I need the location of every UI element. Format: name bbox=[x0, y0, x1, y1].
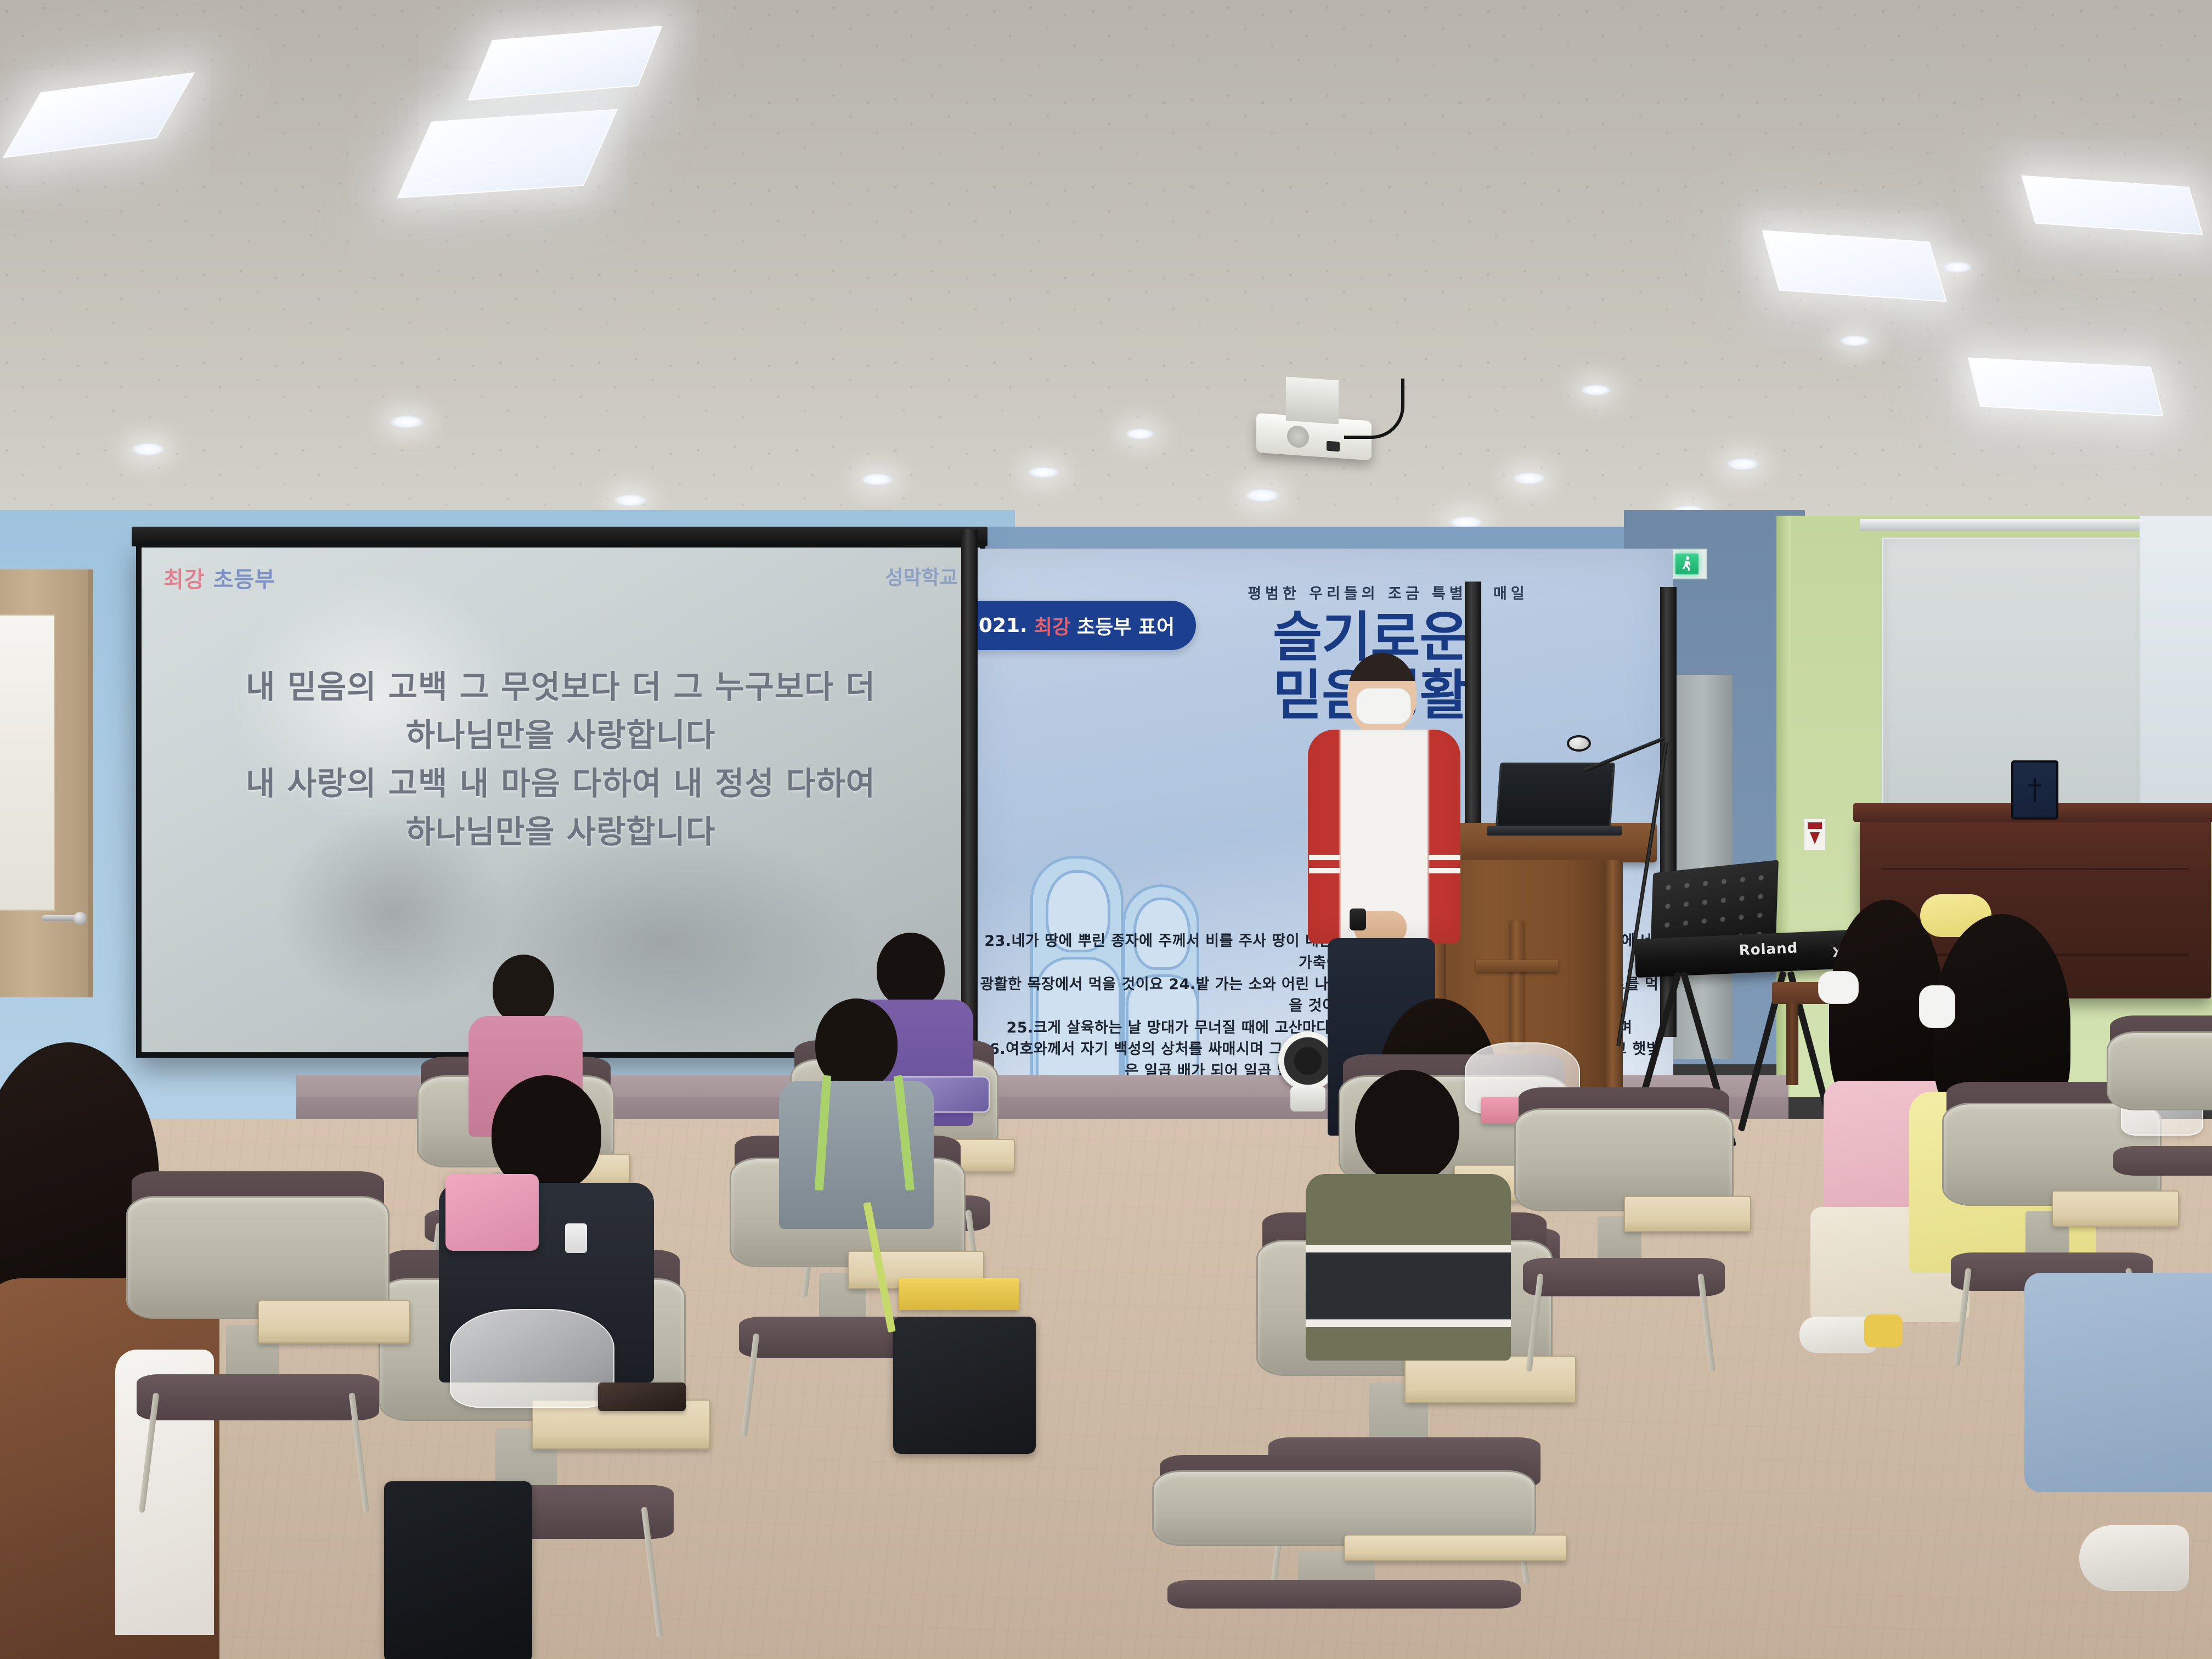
banner-slogan-pill: 2021. 최강 초등부 표어 bbox=[966, 601, 1196, 650]
candy-bag bbox=[450, 1309, 614, 1408]
speaker-sleeve-stripe bbox=[1309, 855, 1340, 860]
ceiling-downlight bbox=[1580, 384, 1612, 396]
laptop-base bbox=[1487, 826, 1622, 836]
ceiling-downlight bbox=[860, 473, 894, 486]
slide-logo: 최강 초등부 bbox=[163, 562, 275, 594]
speaker-sleeve-stripe bbox=[1429, 868, 1460, 873]
ceiling-panel-light bbox=[1968, 357, 2164, 416]
slide-header: 최강 초등부 성막학교 bbox=[142, 562, 980, 594]
piano-bench-leg bbox=[1786, 1003, 1798, 1085]
face-mask bbox=[1919, 985, 1955, 1028]
banner-tagline: 평범한 우리들의 조금 특별한 매일 bbox=[1196, 582, 1580, 603]
window-frame bbox=[2140, 516, 2212, 823]
exit-running-man-icon bbox=[1675, 554, 1699, 574]
slide-lyric-line: 하나님만을 사랑합니다 bbox=[142, 808, 980, 856]
chair-writing-tablet bbox=[1344, 1534, 1567, 1561]
list-item bbox=[1306, 1070, 1514, 1361]
person-right-jeans bbox=[2024, 1273, 2212, 1657]
mlb-logo-icon bbox=[565, 1223, 587, 1253]
backpack bbox=[384, 1481, 532, 1659]
slide-lyric-line: 내 사랑의 고백 내 마음 다하여 내 정성 다하여 bbox=[142, 759, 980, 808]
chair-with-tablet-arm[interactable] bbox=[1514, 1108, 1734, 1366]
chair-with-tablet-arm[interactable] bbox=[126, 1196, 390, 1503]
chair-seat bbox=[1523, 1258, 1725, 1297]
speaker-sleeve-stripe bbox=[1429, 855, 1460, 860]
pink-pencil-case bbox=[445, 1174, 539, 1251]
ceiling-downlight bbox=[613, 494, 647, 507]
child-head bbox=[877, 933, 945, 1007]
sock bbox=[1864, 1314, 1903, 1347]
child-head bbox=[1355, 1070, 1459, 1183]
chair-seat bbox=[1167, 1580, 1521, 1609]
fire-extinguisher-sign bbox=[1804, 819, 1826, 850]
speaker-wristwatch bbox=[1350, 909, 1366, 930]
ceiling-downlight bbox=[1942, 261, 1973, 273]
chair-seat bbox=[2113, 1146, 2212, 1176]
jeans bbox=[2024, 1273, 2212, 1492]
chair-with-tablet-arm[interactable] bbox=[1152, 1470, 1536, 1659]
classroom-scene-photo: 최강 초등부 성막학교 내 믿음의 고백 그 무엇보다 더 그 누구보다 더 하… bbox=[0, 0, 2212, 1659]
chair-seat bbox=[137, 1374, 379, 1420]
chair-with-tablet-arm[interactable] bbox=[2107, 1031, 2212, 1229]
door-left[interactable] bbox=[0, 569, 93, 997]
ceiling-downlight bbox=[1244, 488, 1280, 503]
chair-writing-tablet bbox=[1624, 1196, 1751, 1232]
chair-writing-tablet bbox=[258, 1300, 410, 1343]
piano-panel-line bbox=[1882, 868, 2189, 870]
backpack bbox=[893, 1317, 1036, 1454]
ceiling-downlight bbox=[1839, 335, 1871, 347]
ceiling-downlight bbox=[1125, 428, 1155, 440]
slide-lyric-line: 하나님만을 사랑합니다 bbox=[142, 711, 980, 759]
face-mask bbox=[1818, 971, 1859, 1004]
ceiling-downlight bbox=[1027, 466, 1060, 478]
laptop[interactable] bbox=[1496, 763, 1615, 828]
drop-ceiling bbox=[0, 0, 2212, 554]
fire-extinguisher-sign-bar bbox=[1808, 822, 1822, 829]
child-head bbox=[493, 955, 554, 1024]
slide-lyric-line: 내 믿음의 고백 그 무엇보다 더 그 누구보다 더 bbox=[142, 663, 980, 711]
ceiling-downlight bbox=[1726, 458, 1760, 471]
fire-extinguisher-sign-arrow bbox=[1810, 832, 1820, 844]
slide-lyrics: 내 믿음의 고백 그 무엇보다 더 그 누구보다 더 하나님만을 사랑합니다 내… bbox=[142, 663, 980, 856]
ceiling-downlight bbox=[131, 442, 166, 456]
ceiling-panel-light bbox=[1762, 230, 1947, 302]
door-handle[interactable] bbox=[42, 915, 82, 921]
smartphone[interactable] bbox=[598, 1383, 686, 1411]
banner-pill-rest: 초등부 표어 bbox=[1077, 611, 1175, 640]
cross-icon-bar bbox=[1476, 960, 1558, 972]
speaker-sleeve-stripe bbox=[1309, 868, 1340, 873]
ceiling-downlight bbox=[388, 415, 425, 429]
door-glass-panel bbox=[0, 614, 55, 911]
chair-back bbox=[2107, 1031, 2212, 1110]
ceiling-downlight bbox=[1512, 472, 1546, 485]
slide-school-label: 성막학교 bbox=[885, 562, 958, 590]
cross-icon bbox=[1510, 921, 1524, 1047]
list-item bbox=[779, 998, 938, 1229]
pulpit-post-right bbox=[1604, 860, 1623, 1124]
slide-logo-red: 최강 bbox=[163, 567, 205, 592]
tablet-device[interactable]: † bbox=[2011, 760, 2058, 820]
projector-ceiling-mount bbox=[1286, 377, 1339, 425]
shoe bbox=[2079, 1525, 2189, 1591]
child-torso bbox=[1306, 1174, 1511, 1361]
speaker-face-mask bbox=[1356, 688, 1411, 724]
microphone-icon bbox=[1567, 735, 1591, 752]
slide-logo-blue: 초등부 bbox=[213, 567, 275, 592]
yellow-bible[interactable] bbox=[899, 1278, 1019, 1310]
keyboard-brand-label: Roland bbox=[1739, 940, 1798, 959]
cross-icon: † bbox=[2028, 776, 2042, 804]
banner-pill-accent: 최강 bbox=[1034, 611, 1070, 640]
